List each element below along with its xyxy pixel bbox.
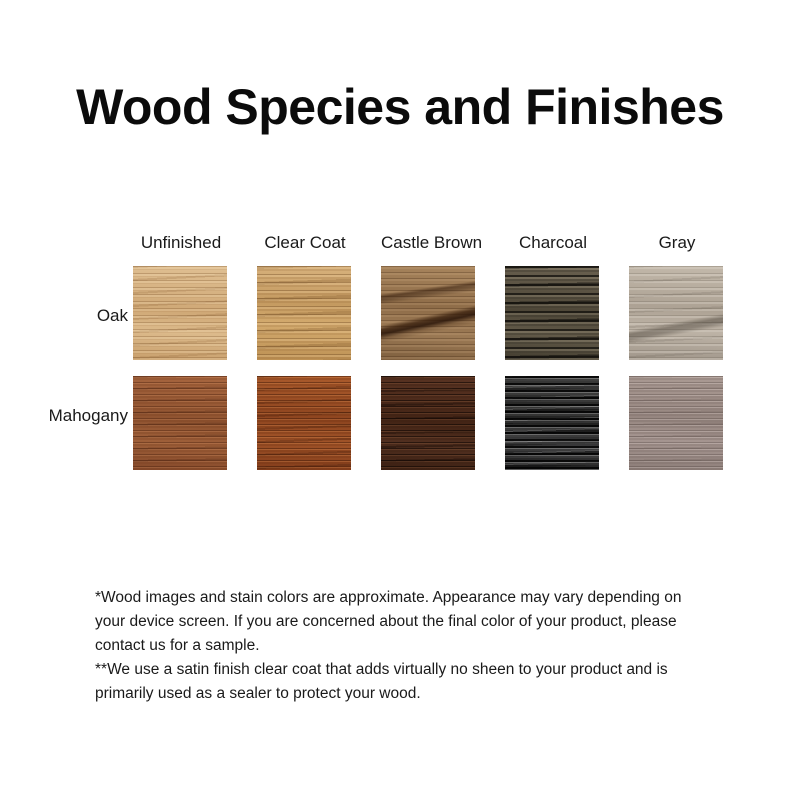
swatch-row-oak <box>133 266 729 360</box>
swatch-oak-clear-coat[interactable] <box>257 266 351 360</box>
swatch-row-mahogany <box>133 376 729 470</box>
finish-matrix: Unfinished Clear Coat Castle Brown Charc… <box>133 232 729 486</box>
finish-header-row: Unfinished Clear Coat Castle Brown Charc… <box>133 232 729 266</box>
footnotes: *Wood images and stain colors are approx… <box>95 586 709 706</box>
swatch-mahogany-charcoal[interactable] <box>505 376 599 470</box>
column-header-clear-coat: Clear Coat <box>257 232 353 266</box>
footnote-color-disclaimer: *Wood images and stain colors are approx… <box>95 586 709 658</box>
footnote-clear-coat: **We use a satin finish clear coat that … <box>95 658 709 706</box>
wood-texture-oak-castle-brown <box>381 266 475 360</box>
swatch-mahogany-gray[interactable] <box>629 376 723 470</box>
row-label-oak: Oak <box>8 305 128 327</box>
swatch-oak-gray[interactable] <box>629 266 723 360</box>
wood-texture-mahogany-charcoal <box>505 376 599 470</box>
swatch-mahogany-clear-coat[interactable] <box>257 376 351 470</box>
wood-texture-mahogany-gray <box>629 376 723 470</box>
column-header-gray: Gray <box>629 232 725 266</box>
swatch-mahogany-castle-brown[interactable] <box>381 376 475 470</box>
page-title: Wood Species and Finishes <box>0 76 800 138</box>
row-label-mahogany: Mahogany <box>8 405 128 427</box>
swatch-oak-castle-brown[interactable] <box>381 266 475 360</box>
column-header-castle-brown: Castle Brown <box>381 232 477 266</box>
swatch-oak-charcoal[interactable] <box>505 266 599 360</box>
wood-texture-oak-gray <box>629 266 723 360</box>
wood-texture-mahogany-castle-brown <box>381 376 475 470</box>
swatch-mahogany-unfinished[interactable] <box>133 376 227 470</box>
wood-texture-oak-unfinished <box>133 266 227 360</box>
wood-texture-oak-clear-coat <box>257 266 351 360</box>
wood-finish-chart-page: Wood Species and Finishes Oak Mahogany U… <box>0 0 800 800</box>
column-header-charcoal: Charcoal <box>505 232 601 266</box>
wood-texture-mahogany-clear-coat <box>257 376 351 470</box>
swatch-oak-unfinished[interactable] <box>133 266 227 360</box>
wood-texture-mahogany-unfinished <box>133 376 227 470</box>
wood-texture-oak-charcoal <box>505 266 599 360</box>
column-header-unfinished: Unfinished <box>133 232 229 266</box>
